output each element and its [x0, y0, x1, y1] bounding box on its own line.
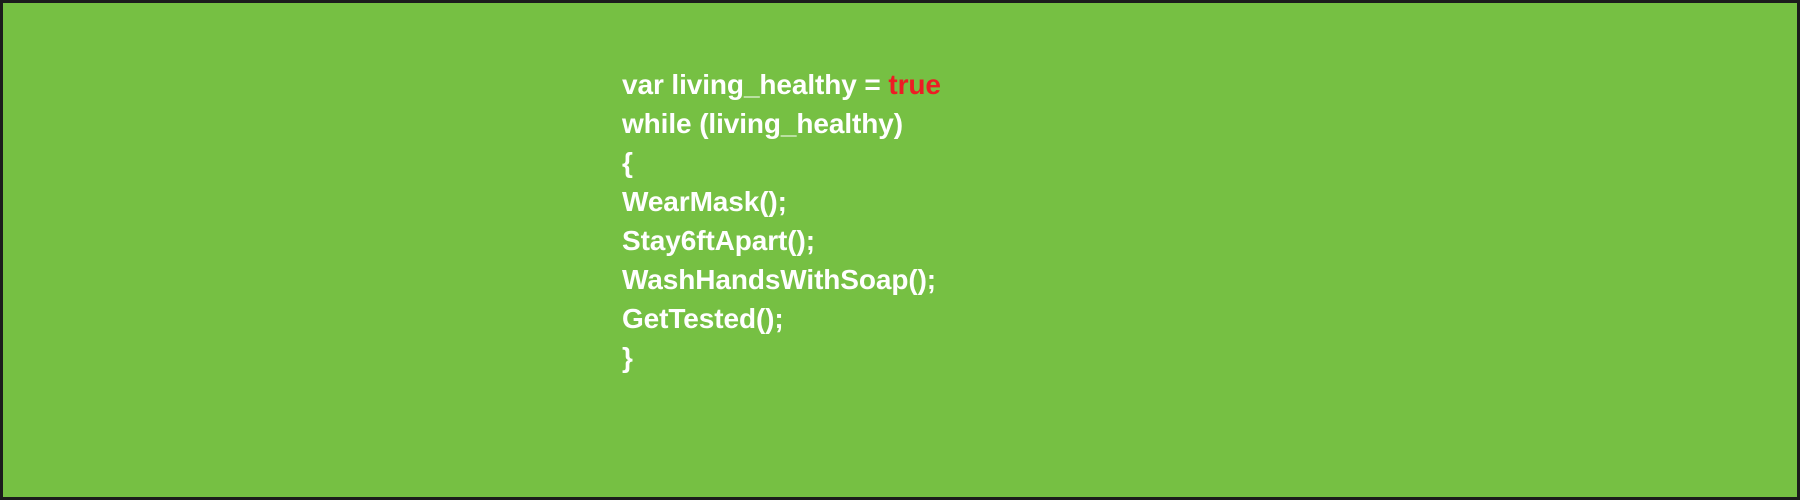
code-line-7-text: GetTested();: [622, 303, 784, 334]
code-line-7: GetTested();: [622, 299, 941, 338]
screenshot-root: var living_healthy = true while (living_…: [0, 0, 1800, 500]
code-line-8: }: [622, 338, 941, 377]
code-line-6-text: WashHandsWithSoap();: [622, 264, 936, 295]
code-line-2: while (living_healthy): [622, 104, 941, 143]
green-code-panel: var living_healthy = true while (living_…: [3, 3, 1797, 497]
code-block: var living_healthy = true while (living_…: [622, 65, 941, 377]
code-line-2-text: while (living_healthy): [622, 108, 903, 139]
code-line-3-text: {: [622, 147, 633, 178]
code-line-1: var living_healthy = true: [622, 65, 941, 104]
code-line-3: {: [622, 143, 941, 182]
code-line-8-text: }: [622, 342, 633, 373]
code-line-5-text: Stay6ftApart();: [622, 225, 815, 256]
code-line-4-text: WearMask();: [622, 186, 787, 217]
code-line-5: Stay6ftApart();: [622, 221, 941, 260]
code-line-6: WashHandsWithSoap();: [622, 260, 941, 299]
code-line-1-text: var living_healthy =: [622, 69, 888, 100]
code-line-4: WearMask();: [622, 182, 941, 221]
code-keyword-true: true: [888, 69, 941, 100]
